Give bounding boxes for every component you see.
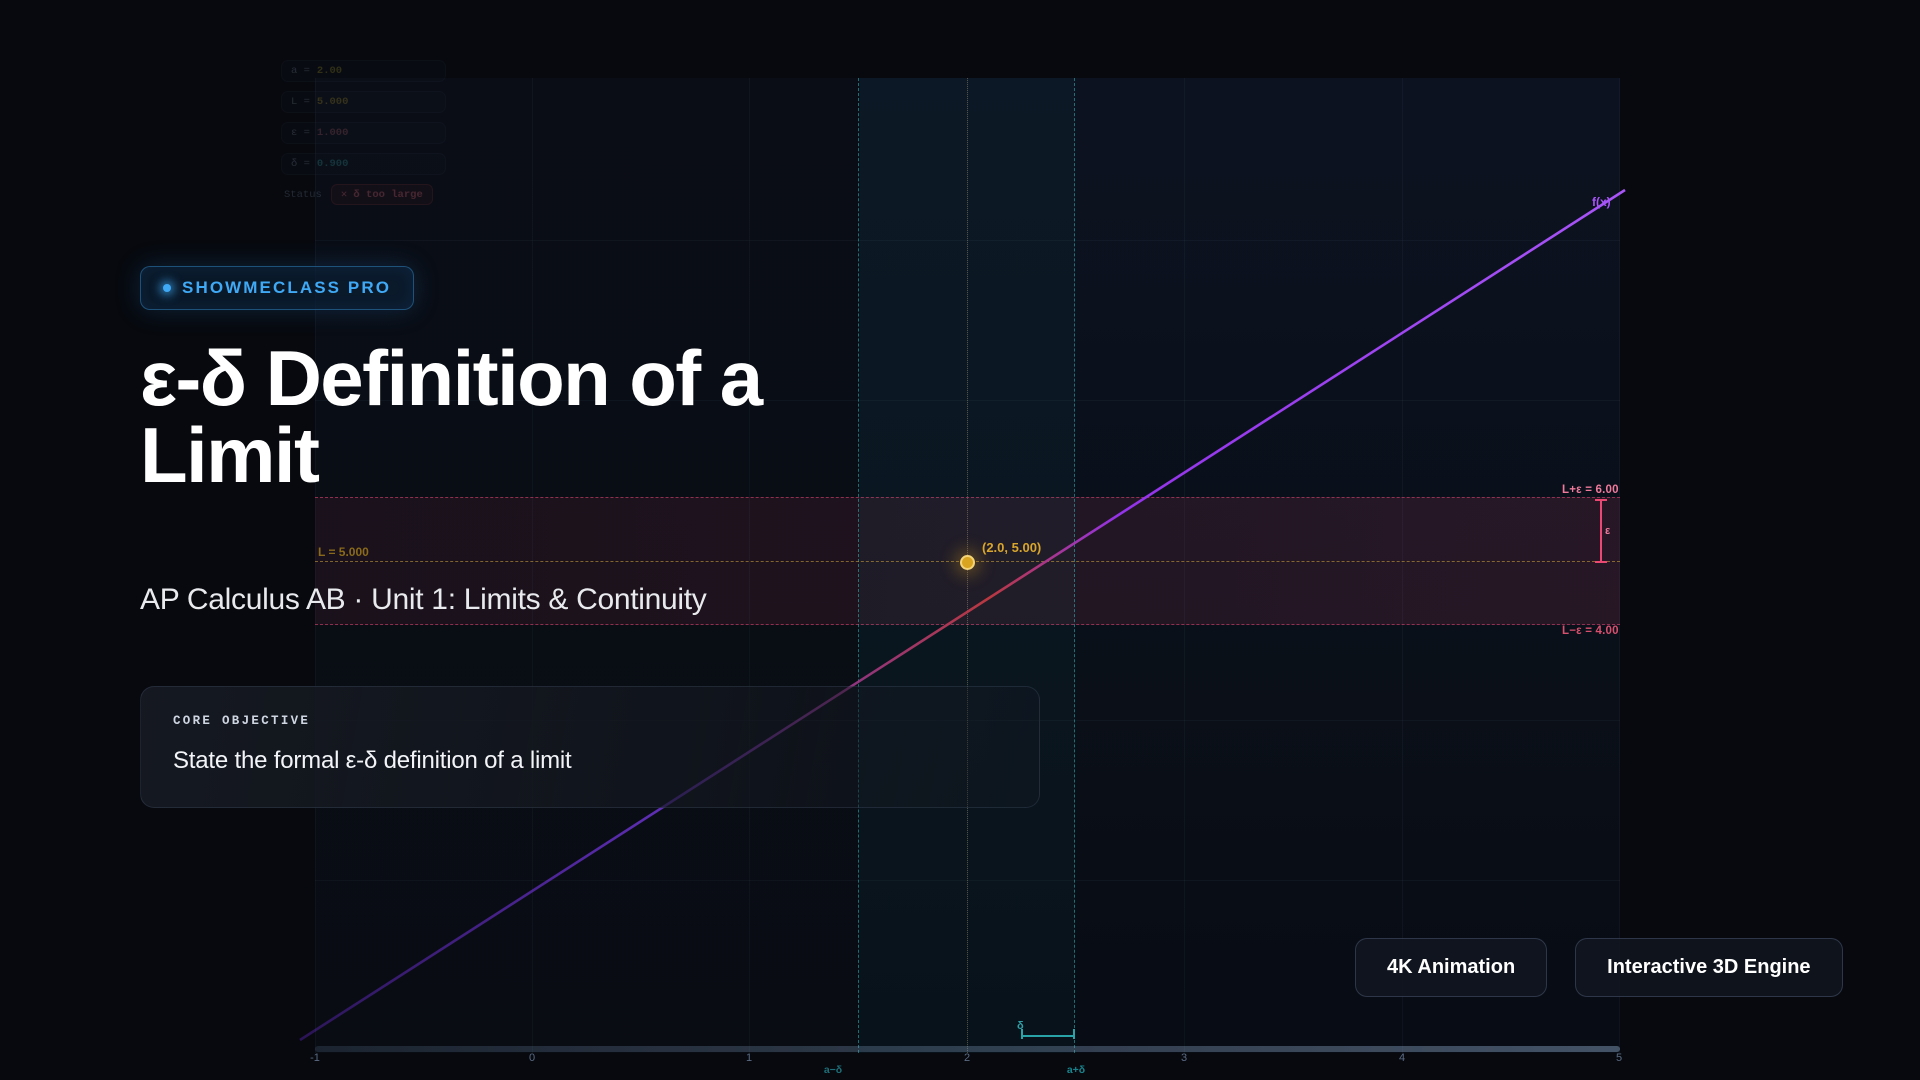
page-title: ε-δ Definition of a Limit bbox=[140, 340, 930, 494]
cta-button-row: 4K Animation Interactive 3D Engine bbox=[1355, 938, 1843, 997]
cta-interactive-3d-engine-button[interactable]: Interactive 3D Engine bbox=[1575, 938, 1842, 997]
product-badge[interactable]: SHOWMECLASS PRO bbox=[140, 266, 414, 310]
status-dot-icon bbox=[163, 284, 171, 292]
core-objective-text: State the formal ε-δ definition of a lim… bbox=[173, 747, 572, 775]
core-objective-kicker: CORE OBJECTIVE bbox=[173, 714, 310, 728]
cta-4k-animation-button[interactable]: 4K Animation bbox=[1355, 938, 1547, 997]
hero-content: SHOWMECLASS PRO ε-δ Definition of a Limi… bbox=[0, 0, 1920, 1080]
product-badge-label: SHOWMECLASS PRO bbox=[182, 278, 391, 298]
core-objective-card: CORE OBJECTIVE State the formal ε-δ defi… bbox=[140, 686, 1040, 808]
page-subtitle: AP Calculus AB · Unit 1: Limits & Contin… bbox=[140, 583, 706, 617]
